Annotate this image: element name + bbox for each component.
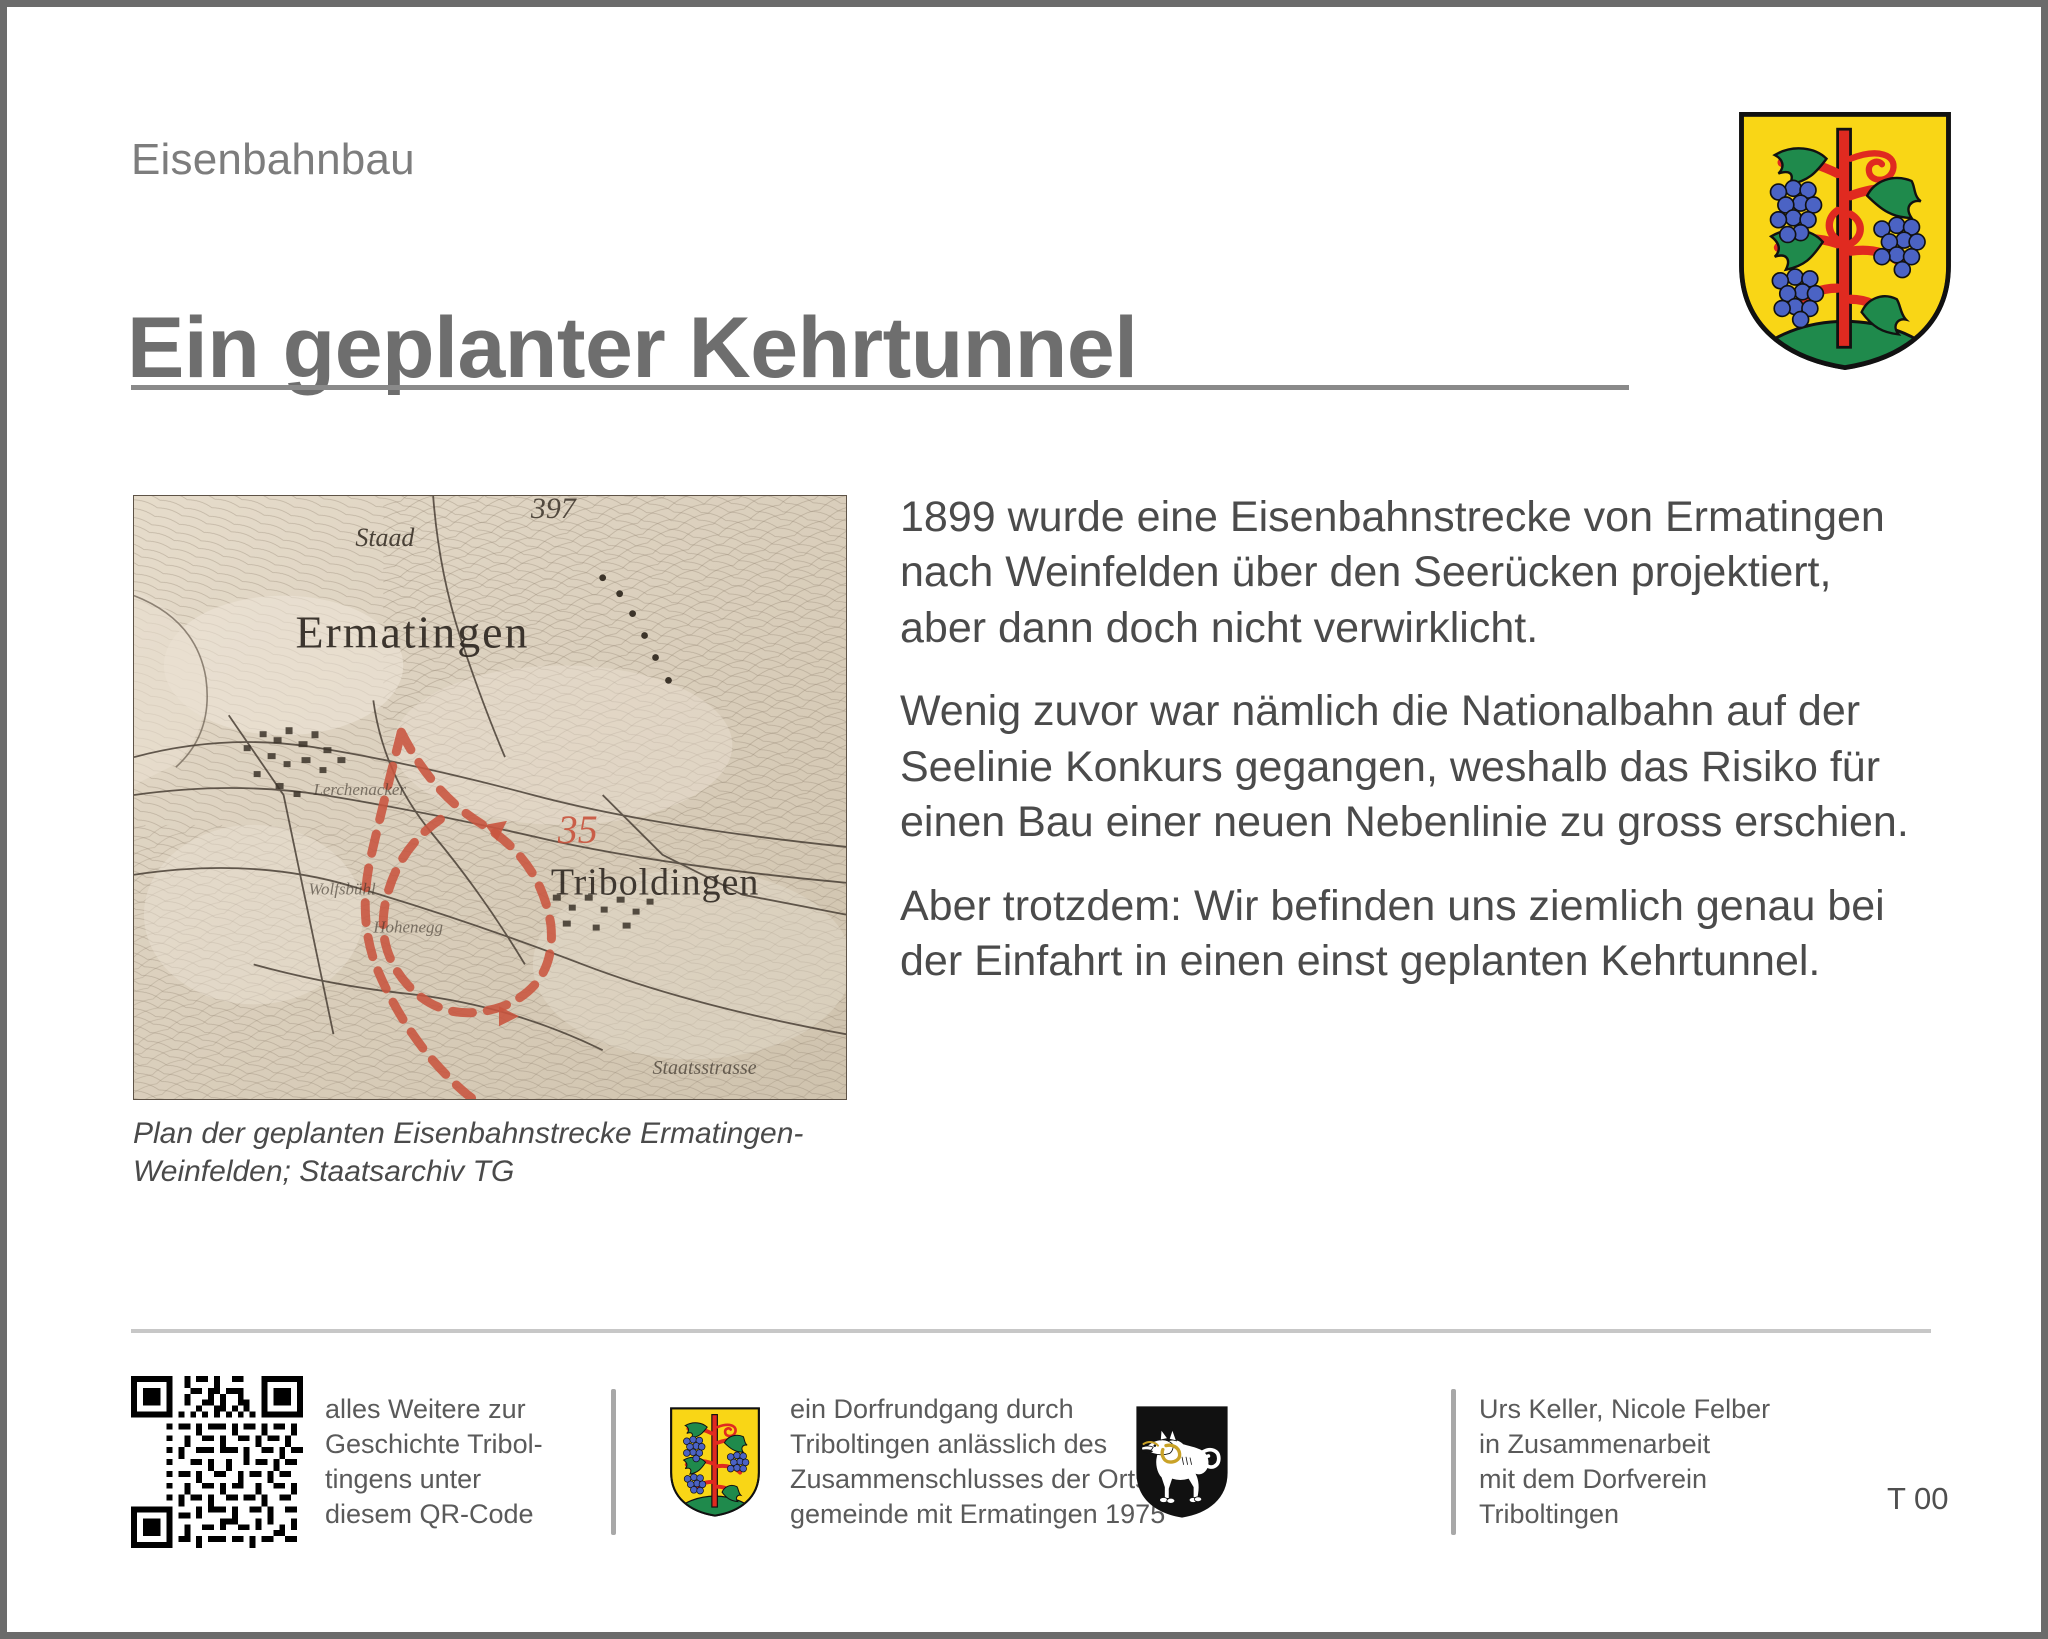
map-image: 35 Staad Ermatingen Triboldingen 397 Sta…	[133, 495, 847, 1100]
svg-text:35: 35	[557, 807, 598, 852]
paragraph-3: Aber trotzdem: Wir befinden uns ziemlich…	[900, 879, 1920, 990]
historical-map-graphic: 35 Staad Ermatingen Triboldingen 397 Sta…	[134, 496, 846, 1099]
footer: alles Weitere zur Geschichte Tribol- tin…	[131, 1372, 1931, 1572]
footer-qr-block: alles Weitere zur Geschichte Tribol- tin…	[131, 1372, 543, 1552]
svg-text:Lerchenacker: Lerchenacker	[312, 780, 406, 799]
body-text: 1899 wurde eine Eisenbahnstrecke von Erm…	[900, 490, 1920, 990]
paragraph-1: 1899 wurde eine Eisenbahnstrecke von Erm…	[900, 490, 1920, 656]
credits-text: Urs Keller, Nicole Felber in Zusammenarb…	[1479, 1392, 1770, 1532]
paragraph-2: Wenig zuvor war nämlich die Nationalbahn…	[900, 684, 1920, 850]
svg-text:Triboldingen: Triboldingen	[551, 862, 759, 904]
footer-triboltingen-block: ein Dorfrundgang durch Triboltingen anlä…	[668, 1372, 1165, 1552]
panel-code: T 00	[1887, 1481, 1948, 1517]
historical-map-figure: 35 Staad Ermatingen Triboldingen 397 Sta…	[133, 495, 847, 1100]
qr-caption: alles Weitere zur Geschichte Tribol- tin…	[325, 1392, 543, 1532]
qr-code[interactable]	[131, 1376, 303, 1548]
triboltingen-crest-icon	[1734, 107, 1956, 375]
footer-ermatingen-block	[1134, 1372, 1230, 1552]
svg-text:Hohenegg: Hohenegg	[372, 918, 443, 937]
page-eyebrow: Eisenbahnbau	[131, 135, 415, 185]
page-title: Ein geplanter Kehrtunnel	[127, 305, 1138, 391]
footer-divider	[131, 1329, 1931, 1333]
svg-text:Wolfsbühl: Wolfsbühl	[309, 880, 376, 899]
triboltingen-caption: ein Dorfrundgang durch Triboltingen anlä…	[790, 1392, 1165, 1532]
svg-text:Ermatingen: Ermatingen	[296, 607, 530, 658]
title-divider	[131, 385, 1629, 390]
svg-text:Staatsstrasse: Staatsstrasse	[653, 1057, 757, 1079]
figure-caption: Plan der geplanten Eisenbahnstrecke Erma…	[133, 1115, 833, 1192]
svg-text:397: 397	[530, 496, 577, 525]
footer-credits-block: Urs Keller, Nicole Felber in Zusammenarb…	[1479, 1372, 1770, 1552]
info-panel: Eisenbahnbau Ein geplanter Kehrtunnel	[0, 0, 2048, 1639]
svg-text:Staad: Staad	[355, 523, 415, 552]
triboltingen-crest-small-icon	[668, 1404, 762, 1520]
ermatingen-crest-icon	[1134, 1403, 1230, 1521]
